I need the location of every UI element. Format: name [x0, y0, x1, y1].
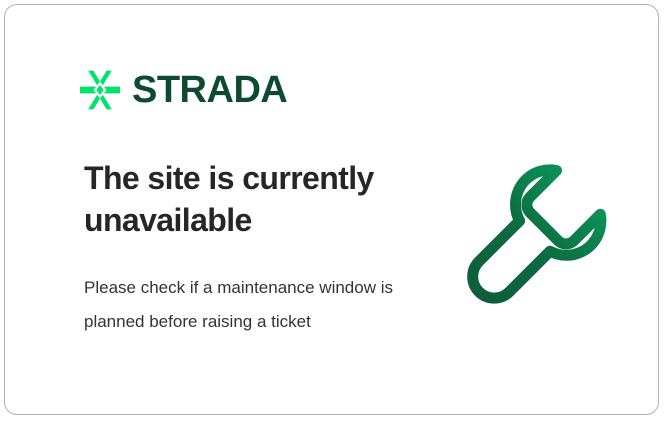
page-description: Please check if a maintenance window is …: [84, 271, 394, 339]
card-content: STRADA The site is currently unavailable…: [5, 5, 658, 414]
strada-asterisk-mark-icon: [79, 69, 121, 111]
brand-logo: STRADA: [79, 69, 287, 111]
status-card: STRADA The site is currently unavailable…: [4, 4, 659, 415]
error-page: STRADA The site is currently unavailable…: [0, 0, 666, 436]
brand-wordmark: STRADA: [132, 71, 287, 109]
wrench-icon: [473, 170, 601, 298]
page-title: The site is currently unavailable: [84, 157, 429, 241]
maintenance-illustration: [457, 157, 617, 312]
